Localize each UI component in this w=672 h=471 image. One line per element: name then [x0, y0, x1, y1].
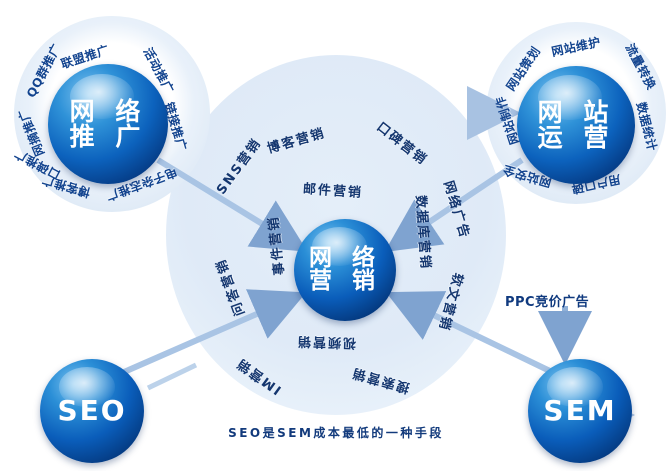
center-keyword-2: 邮件营销	[302, 178, 363, 201]
arrow-left-lower-tail	[148, 365, 196, 388]
node-left-label-line2: 推 广	[70, 124, 147, 150]
node-right-label-line1: 网 站	[538, 100, 615, 126]
ppc-callout-label: PPC竞价广告	[505, 291, 589, 310]
node-seo[interactable]: SEO	[40, 359, 144, 463]
node-right-label-line2: 运 营	[538, 125, 615, 151]
node-center-label-line2: 营 销	[309, 270, 381, 293]
diagram-canvas: 联盟推广 活动推广 链接推广 电子杂志推广 博客推广 口碑推广 网摘推广 QQ群…	[0, 0, 672, 471]
node-wangluo-tuiguang[interactable]: 网 络 推 广	[48, 64, 168, 184]
node-sem-label: SEM	[543, 397, 616, 426]
node-wangluo-yingxiao[interactable]: 网 络 营 销	[294, 219, 396, 321]
node-seo-label: SEO	[57, 397, 126, 426]
node-sem[interactable]: SEM	[528, 359, 632, 463]
arrow-seo-to-center	[124, 296, 298, 372]
node-left-label-line1: 网 络	[70, 99, 147, 125]
center-keyword-6: 视频营销	[296, 333, 357, 354]
node-wangzhan-yunying[interactable]: 网 站 运 营	[517, 66, 635, 184]
node-center-label-line1: 网 络	[309, 247, 381, 270]
